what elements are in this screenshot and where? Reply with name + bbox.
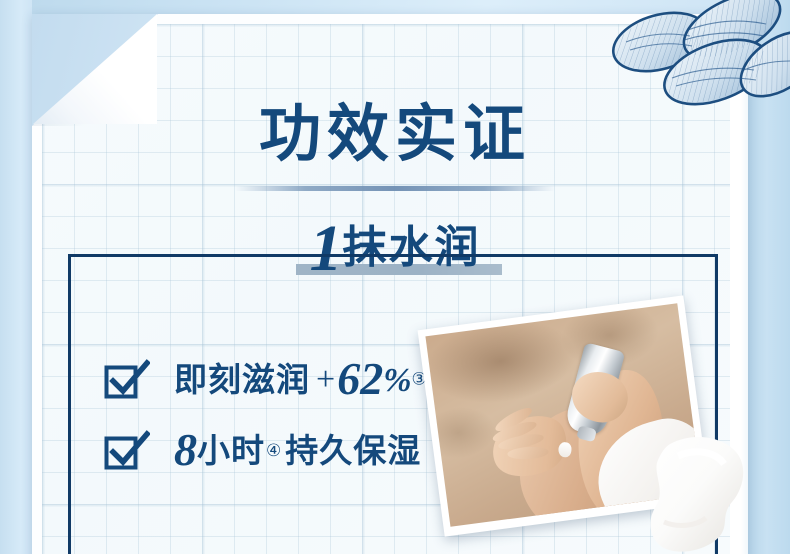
- benefit-footnote-2: ④: [266, 441, 281, 461]
- benefit-unit-2: 小时: [197, 434, 265, 470]
- benefit-value-2: 8: [174, 424, 197, 475]
- checkbox-checked-icon: [104, 430, 150, 470]
- checkbox-checked-icon: [104, 359, 150, 399]
- subtitle-block: 1抹水润: [0, 216, 790, 276]
- paper-right-edge: [730, 14, 748, 554]
- product-photo: [418, 295, 711, 536]
- page-title: 功效实证: [0, 104, 790, 166]
- product-photo-image: [425, 303, 702, 527]
- benefit-label-1: 即刻滋润: [174, 363, 310, 399]
- list-item-text: 即刻滋润+62%③: [174, 352, 427, 405]
- benefit-value-1: 62: [337, 353, 383, 404]
- subtitle-number: 1: [310, 212, 343, 285]
- benefit-plus-1: +: [310, 361, 337, 398]
- benefit-label-2: 持久保湿: [285, 434, 421, 470]
- promo-banner: 功效实证 1抹水润 即刻滋润+62%③: [0, 0, 790, 554]
- background-left-gradient: [0, 0, 32, 554]
- background-right-gradient: [748, 0, 790, 554]
- title-divider: [235, 186, 555, 191]
- subtitle-text: 抹水润: [343, 223, 481, 272]
- benefit-unit-1: %: [383, 362, 411, 399]
- list-item-text: 8小时④持久保湿: [174, 423, 421, 476]
- subtitle: 1抹水润: [310, 216, 481, 282]
